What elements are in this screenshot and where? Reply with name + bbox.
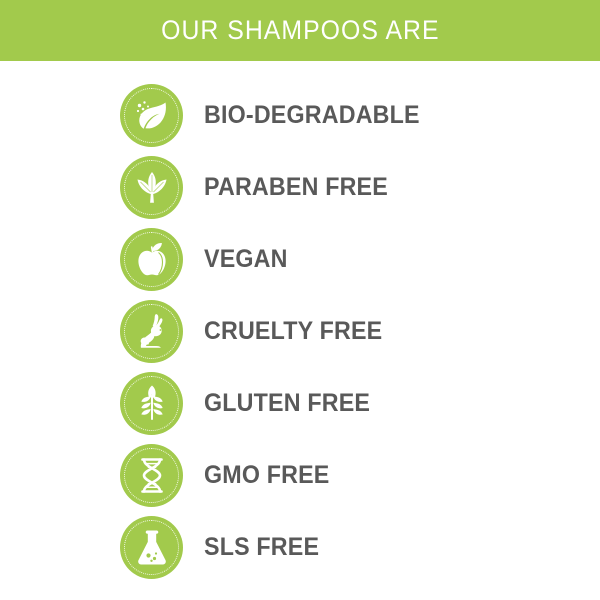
badge-cruelty-free	[120, 300, 183, 363]
flask-icon	[134, 527, 170, 567]
badge-gmo-free	[120, 444, 183, 507]
feature-row: PARABEN FREE	[0, 151, 600, 223]
header-band: OUR SHAMPOOS ARE	[0, 0, 600, 61]
badge-sls-free	[120, 516, 183, 579]
feature-label: GMO FREE	[204, 463, 329, 488]
feature-label: CRUELTY FREE	[204, 319, 382, 344]
feature-label: VEGAN	[204, 247, 288, 272]
badge-bio-degradable	[120, 84, 183, 147]
badge-vegan	[120, 228, 183, 291]
feature-row: GLUTEN FREE	[0, 367, 600, 439]
feature-row: SLS FREE	[0, 511, 600, 583]
feature-list: BIO-DEGRADABLE	[0, 61, 600, 600]
page-title: OUR SHAMPOOS ARE	[161, 17, 439, 44]
feature-label: PARABEN FREE	[204, 175, 388, 200]
leaf-droplets-icon	[132, 95, 172, 135]
rabbit-icon	[132, 311, 172, 351]
feature-row: CRUELTY FREE	[0, 295, 600, 367]
badge-gluten-free	[120, 372, 183, 435]
shampoo-claims-infographic: OUR SHAMPOOS ARE	[0, 0, 600, 600]
feature-row: BIO-DEGRADABLE	[0, 79, 600, 151]
dna-helix-icon	[132, 455, 172, 495]
feature-label: GLUTEN FREE	[204, 391, 370, 416]
feature-row: VEGAN	[0, 223, 600, 295]
feature-row: GMO FREE	[0, 439, 600, 511]
leaves-branch-icon	[131, 166, 173, 208]
feature-label: BIO-DEGRADABLE	[204, 103, 420, 128]
apple-icon	[133, 239, 171, 279]
badge-paraben-free	[120, 156, 183, 219]
wheat-stalk-icon	[133, 383, 171, 423]
feature-label: SLS FREE	[204, 535, 319, 560]
